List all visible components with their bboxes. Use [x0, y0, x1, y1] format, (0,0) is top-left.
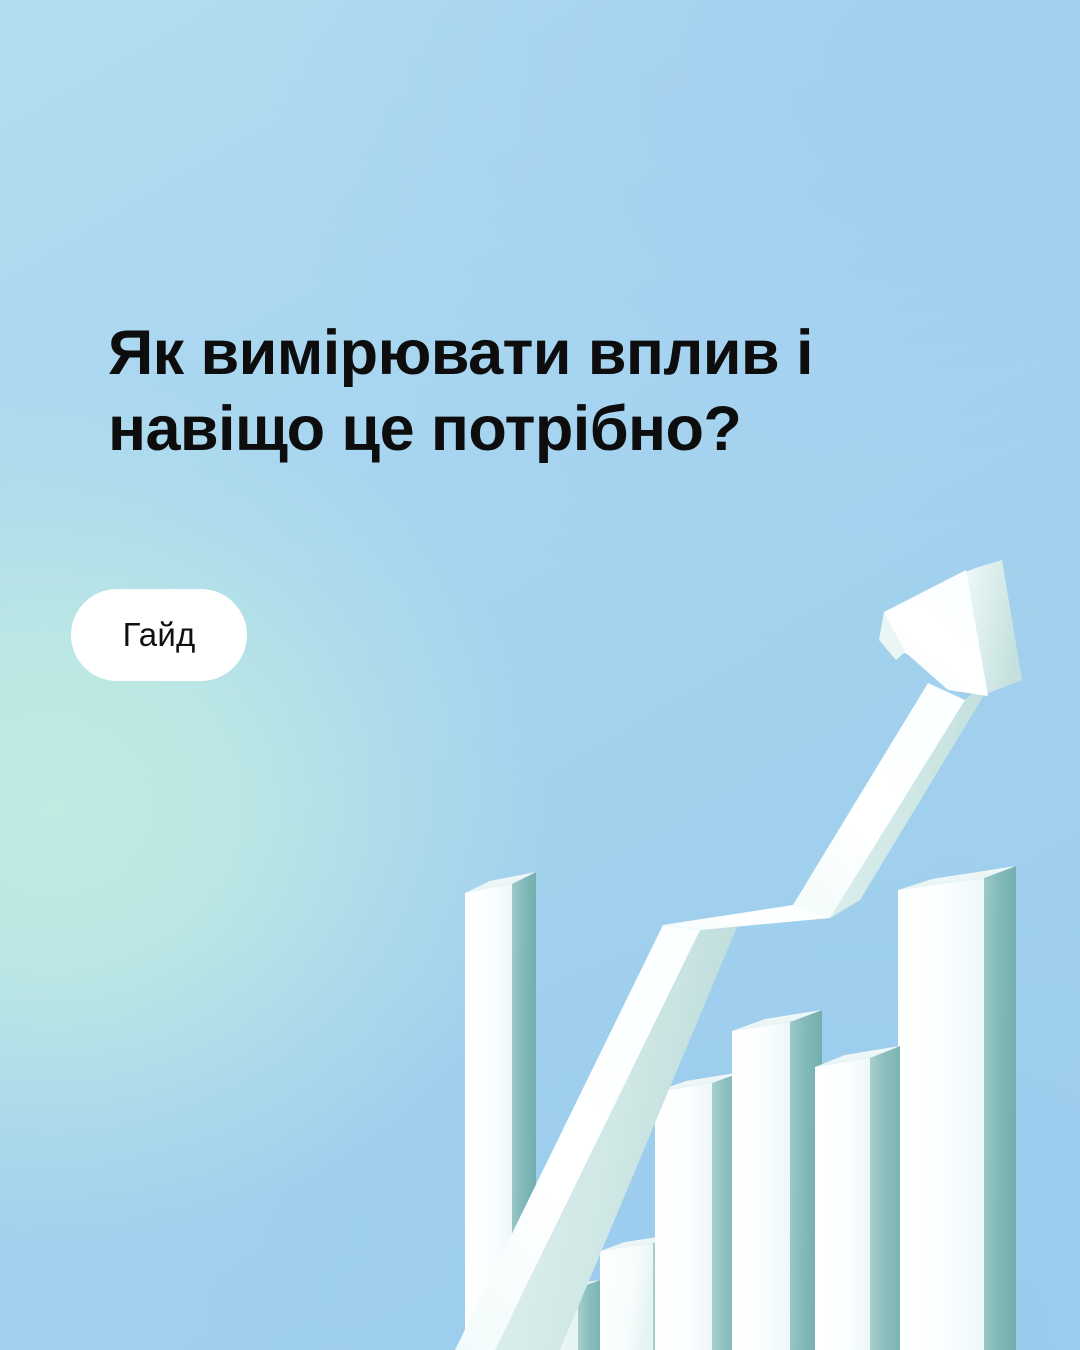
category-badge[interactable]: Гайд	[71, 589, 247, 681]
social-card: Як вимірювати вплив і навіщо це потрібно…	[0, 0, 1080, 1350]
bar-7	[898, 866, 1016, 1350]
bar-5	[732, 1010, 822, 1350]
page-title: Як вимірювати вплив і навіщо це потрібно…	[108, 316, 938, 467]
category-badge-label: Гайд	[123, 616, 196, 654]
bar-4	[655, 1072, 742, 1350]
bar-6	[815, 1046, 900, 1350]
